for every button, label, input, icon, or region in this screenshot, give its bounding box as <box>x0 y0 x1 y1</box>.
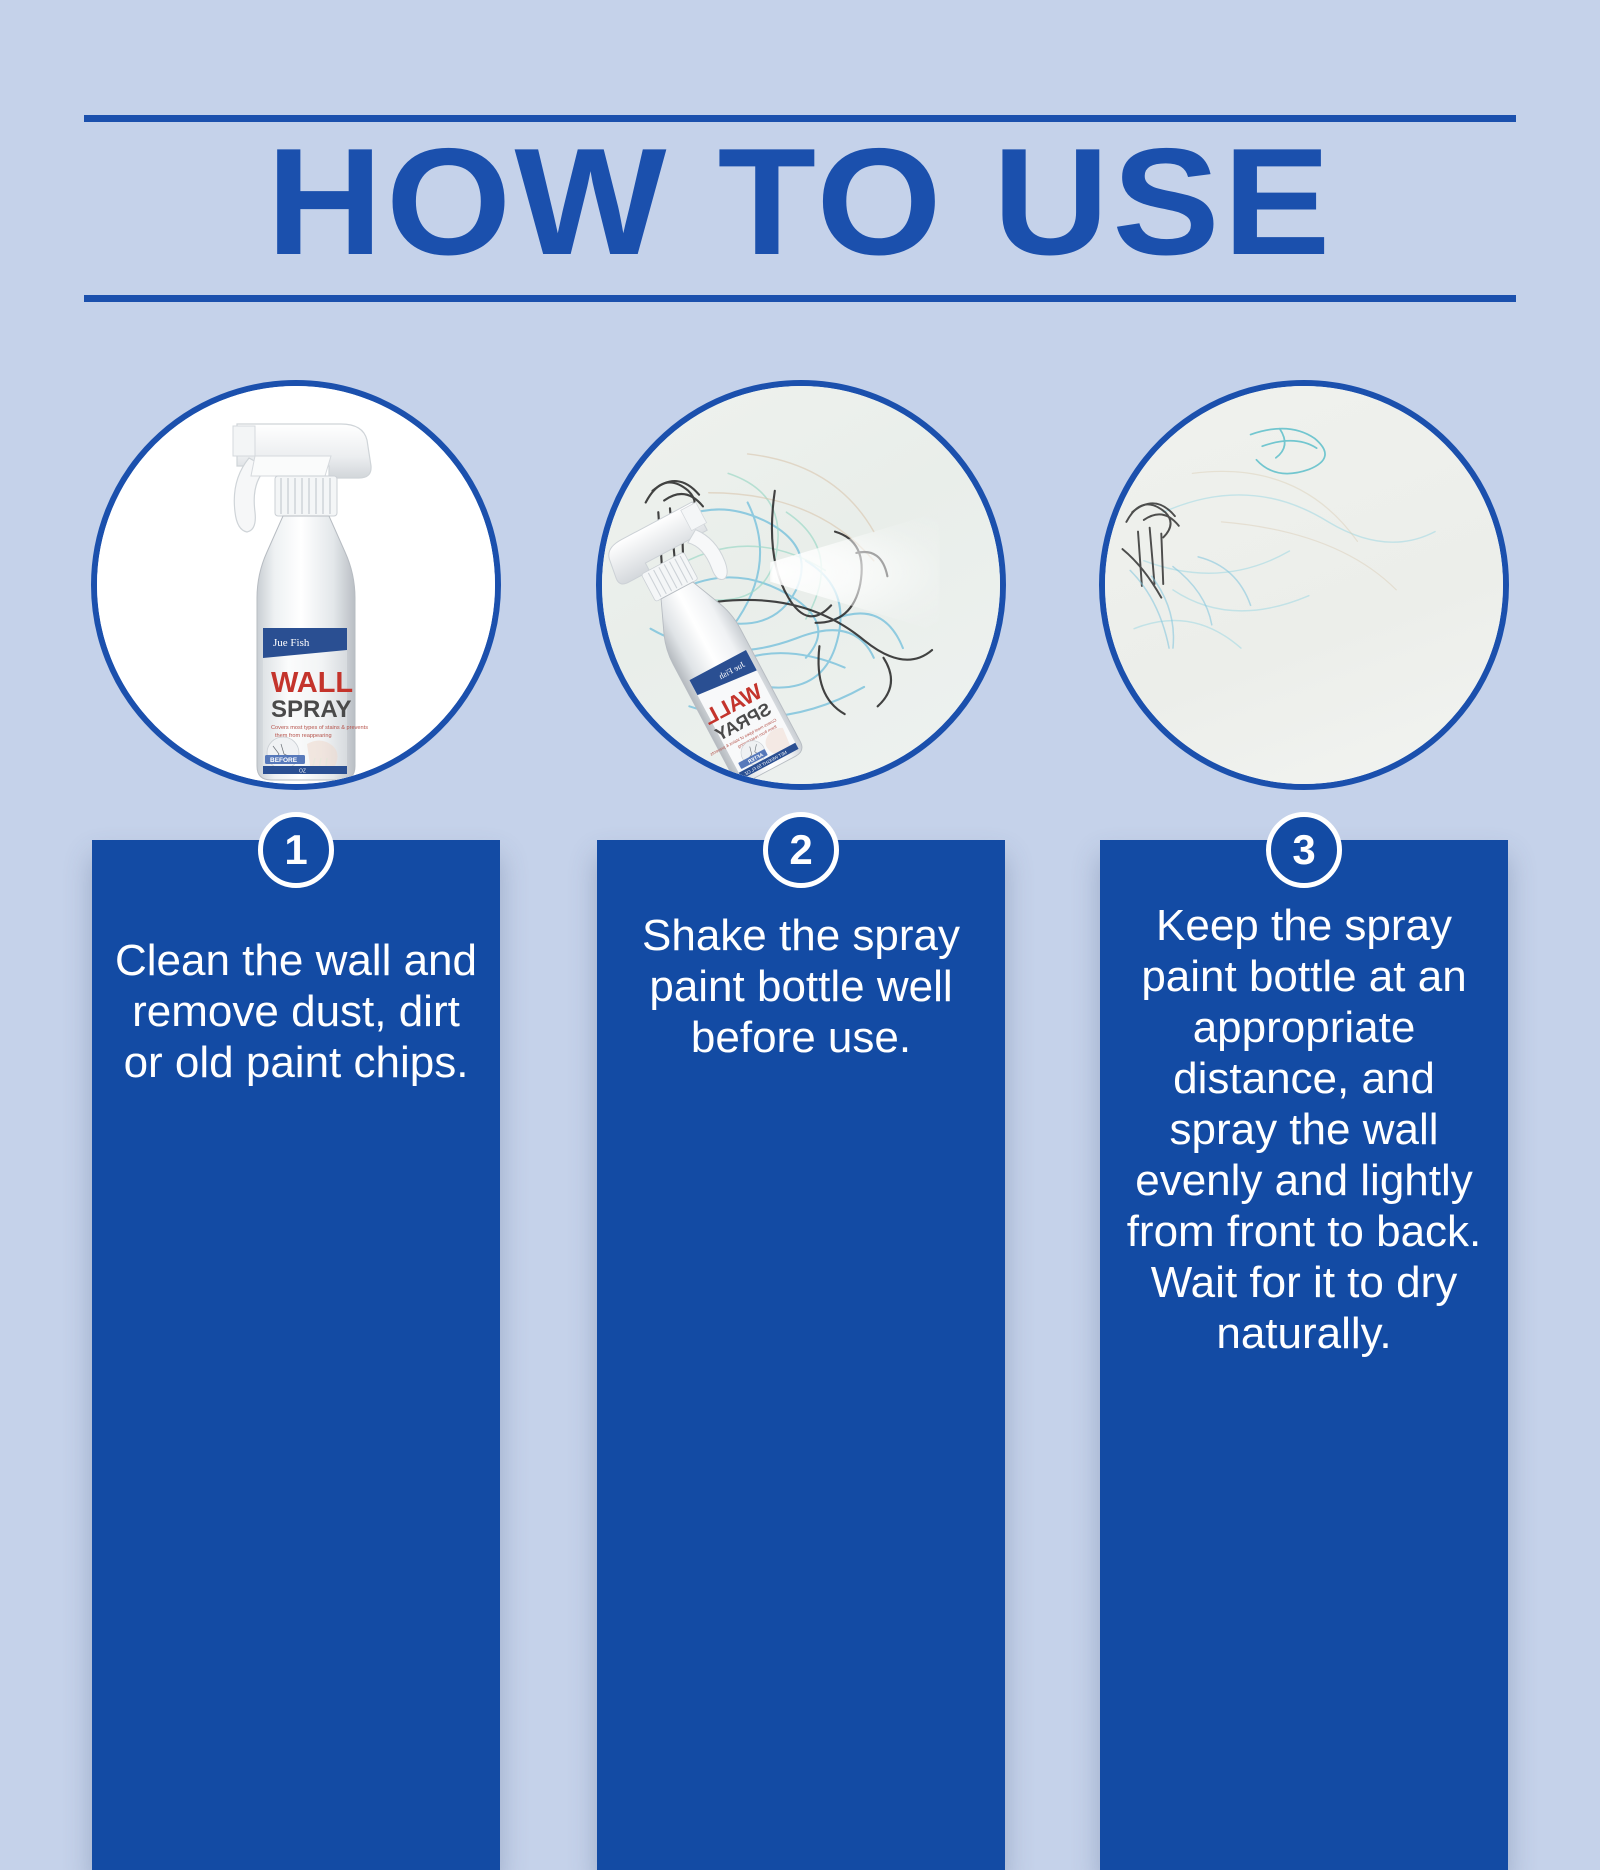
svg-text:OZ: OZ <box>299 769 306 775</box>
infographic-canvas: HOW TO USE <box>0 0 1600 1600</box>
svg-text:BEFORE: BEFORE <box>270 757 298 764</box>
step-caption-1: Clean the wall and remove dust, dirt or … <box>111 935 481 1088</box>
residual-scribbles <box>1105 386 1503 784</box>
step-caption-2: Shake the spray paint bottle well before… <box>616 910 986 1063</box>
svg-text:Jue Fish: Jue Fish <box>273 637 310 649</box>
svg-text:SPRAY: SPRAY <box>271 696 351 723</box>
step-number-badge-1: 1 <box>258 812 334 888</box>
page-title: HOW TO USE <box>0 126 1600 278</box>
step-image-1: Jue Fish WALL SPRAY Covers most types of… <box>91 380 501 790</box>
step-number-badge-3: 3 <box>1266 812 1342 888</box>
svg-text:WALL: WALL <box>271 667 353 699</box>
title-rule-bottom <box>84 295 1516 302</box>
spray-bottle-icon: Jue Fish WALL SPRAY Covers most types of… <box>203 406 403 790</box>
step-caption-3: Keep the spray paint bottle at an approp… <box>1119 900 1489 1359</box>
step-image-2: Jue Fish WALL SPRAY Covers most types of… <box>596 380 1006 790</box>
step-image-3 <box>1099 380 1509 790</box>
step-number-badge-2: 2 <box>763 812 839 888</box>
svg-text:Covers most types of stains &: Covers most types of stains & prevents <box>271 725 368 731</box>
